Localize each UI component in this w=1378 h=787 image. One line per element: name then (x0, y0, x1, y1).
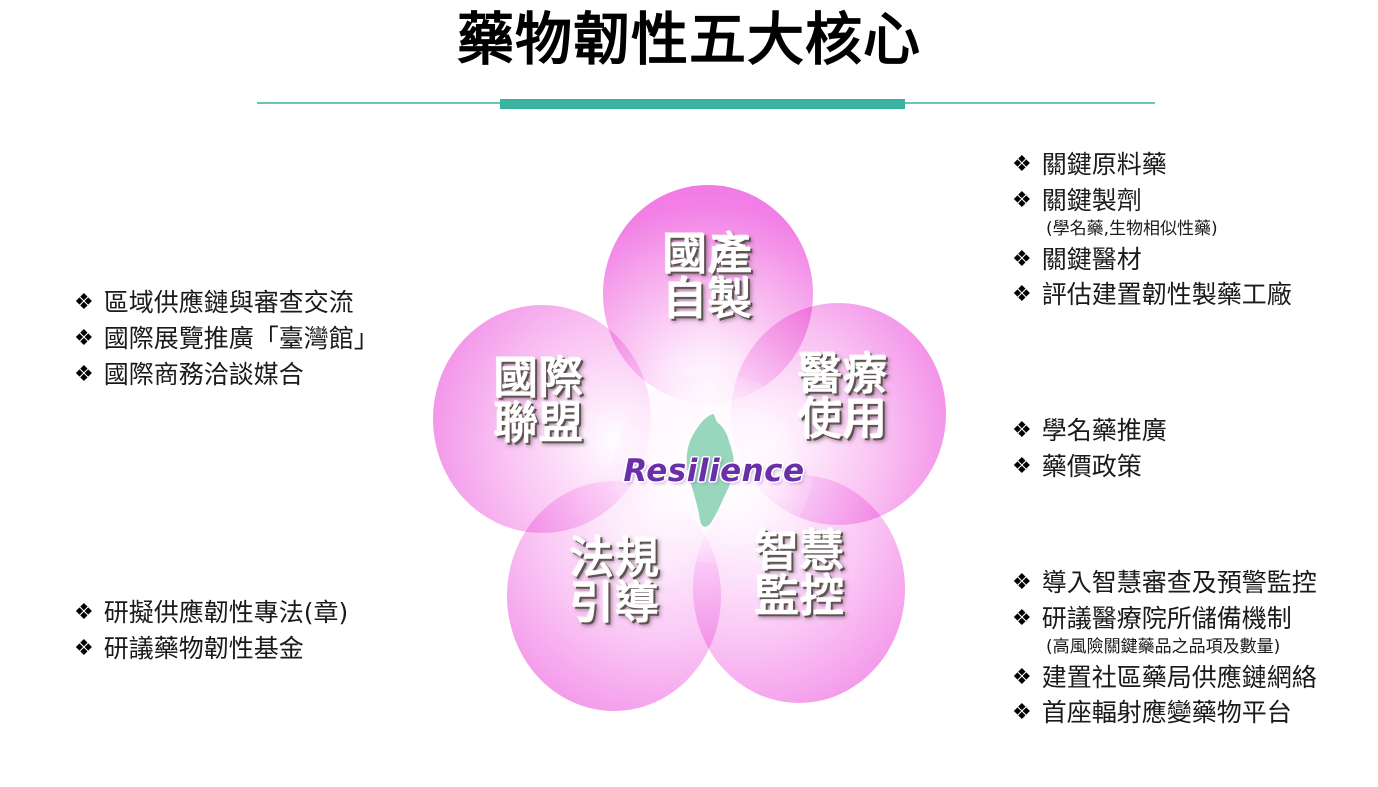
list-item: ❖國際商務洽談媒合 (74, 358, 379, 392)
list-item-label: 國際商務洽談媒合 (104, 358, 304, 392)
list-item: ❖學名藥推廣 (1012, 414, 1167, 448)
bullet-diamond-icon: ❖ (74, 597, 94, 629)
title-divider-bar (500, 99, 905, 109)
list-item: ❖關鍵醫材 (1012, 243, 1292, 277)
notes-left-top: ❖區域供應鏈與審查交流❖國際展覽推廣「臺灣館」❖國際商務洽談媒合 (74, 286, 379, 393)
bullet-diamond-icon: ❖ (74, 633, 94, 665)
list-item: ❖區域供應鏈與審查交流 (74, 286, 379, 320)
list-item-label: 首座輻射應變藥物平台 (1042, 696, 1292, 730)
petal-smart-monitoring[interactable] (693, 475, 905, 703)
list-item: ❖首座輻射應變藥物平台 (1012, 696, 1317, 730)
notes-left-bottom: ❖研擬供應韌性專法(章)❖研議藥物韌性基金 (74, 596, 348, 668)
bullet-diamond-icon: ❖ (1012, 415, 1032, 447)
bullet-diamond-icon: ❖ (1012, 603, 1032, 635)
bullet-diamond-icon: ❖ (1012, 279, 1032, 311)
bullet-diamond-icon: ❖ (1012, 149, 1032, 181)
list-item: ❖關鍵原料藥 (1012, 148, 1292, 182)
list-item: ❖國際展覽推廣「臺灣館」 (74, 322, 379, 356)
bullet-diamond-icon: ❖ (1012, 185, 1032, 217)
notes-right-mid: ❖學名藥推廣❖藥價政策 (1012, 414, 1167, 486)
list-item-label: 藥價政策 (1042, 450, 1142, 484)
petal-regulatory-guidance[interactable] (507, 481, 721, 711)
list-item-label: 關鍵製劑 (1042, 184, 1142, 218)
bullet-diamond-icon: ❖ (1012, 697, 1032, 729)
list-item-label: 評估建置韌性製藥工廠 (1042, 278, 1292, 312)
list-item: ❖導入智慧審查及預警監控 (1012, 566, 1317, 600)
list-item: ❖藥價政策 (1012, 450, 1167, 484)
list-item: ❖評估建置韌性製藥工廠 (1012, 278, 1292, 312)
list-item-subnote: (學名藥,生物相似性藥) (1046, 218, 1292, 240)
list-item-label: 學名藥推廣 (1042, 414, 1167, 448)
list-item-label: 區域供應鏈與審查交流 (104, 286, 354, 320)
bullet-diamond-icon: ❖ (1012, 662, 1032, 694)
bullet-diamond-icon: ❖ (74, 287, 94, 319)
list-item-label: 研擬供應韌性專法(章) (104, 596, 349, 630)
bullet-diamond-icon: ❖ (74, 359, 94, 391)
bullet-diamond-icon: ❖ (1012, 567, 1032, 599)
list-item-label: 研議醫療院所儲備機制 (1042, 602, 1292, 636)
list-item: ❖研議藥物韌性基金 (74, 632, 348, 666)
five-petal-diagram: 國產 自製 醫療 使用 智慧 監控 法規 引導 國際 聯盟 Resilience (425, 185, 995, 725)
list-item-label: 研議藥物韌性基金 (104, 632, 304, 666)
list-item: ❖研擬供應韌性專法(章) (74, 596, 348, 630)
notes-right-bottom: ❖導入智慧審查及預警監控❖研議醫療院所儲備機制(高風險關鍵藥品之品項及數量)❖建… (1012, 566, 1317, 732)
bullet-diamond-icon: ❖ (74, 323, 94, 355)
list-item: ❖研議醫療院所儲備機制 (1012, 602, 1317, 636)
list-item-subnote: (高風險關鍵藥品之品項及數量) (1046, 636, 1317, 658)
list-item: ❖關鍵製劑 (1012, 184, 1292, 218)
list-item-label: 關鍵原料藥 (1042, 148, 1167, 182)
list-item-label: 關鍵醫材 (1042, 243, 1142, 277)
list-item-label: 國際展覽推廣「臺灣館」 (104, 322, 379, 356)
notes-right-top: ❖關鍵原料藥❖關鍵製劑(學名藥,生物相似性藥)❖關鍵醫材❖評估建置韌性製藥工廠 (1012, 148, 1292, 314)
page-title: 藥物韌性五大核心 (0, 8, 1378, 74)
bullet-diamond-icon: ❖ (1012, 451, 1032, 483)
list-item-label: 導入智慧審查及預警監控 (1042, 566, 1317, 600)
list-item-label: 建置社區藥局供應鏈網絡 (1042, 661, 1317, 695)
bullet-diamond-icon: ❖ (1012, 244, 1032, 276)
list-item: ❖建置社區藥局供應鏈網絡 (1012, 661, 1317, 695)
